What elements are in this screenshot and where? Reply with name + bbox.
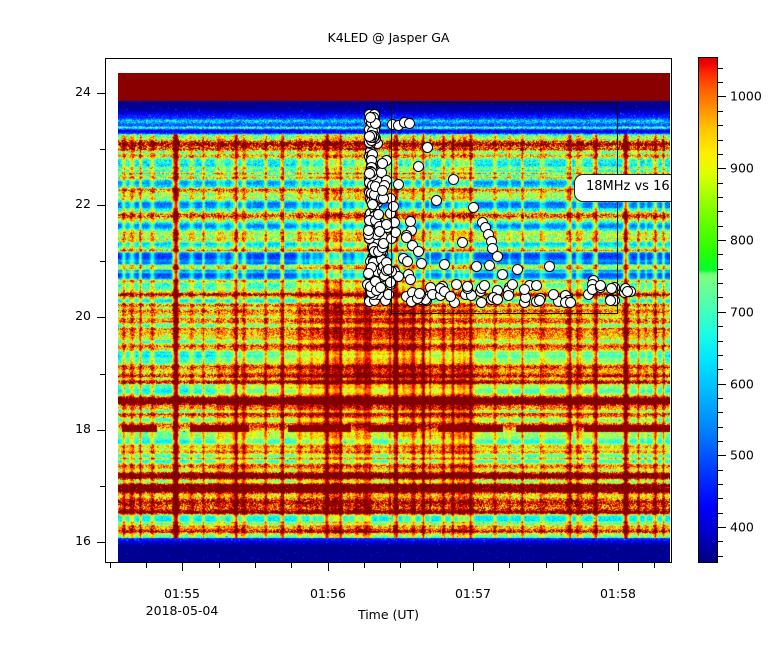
x-axis-tick-minor (509, 563, 510, 568)
colorbar-tick-minor (718, 197, 723, 198)
colorbar-tick-minor (718, 441, 723, 442)
colorbar-tick-minor (718, 111, 723, 112)
x-axis-date-label: 2018-05-04 (146, 603, 219, 618)
page-title: K4LED @ Jasper GA (105, 30, 672, 45)
y-axis-tick-minor (100, 261, 105, 262)
colorbar-tick-label: 800 (730, 233, 754, 248)
colorbar-tick-minor (718, 355, 723, 356)
colorbar-tick-minor (718, 125, 723, 126)
spectrogram-axes[interactable]: 18MHz vs 16MHz (105, 58, 672, 563)
y-axis-tick-label: 18 (75, 421, 91, 436)
x-axis-tick-major (182, 563, 183, 571)
x-axis-tick-label: 01:55 (164, 586, 200, 601)
colorbar-tick-minor (718, 369, 723, 370)
y-axis-tick-major (97, 317, 105, 318)
annotation-textbox[interactable]: 18MHz vs 16MHz (574, 174, 672, 202)
colorbar-tick-minor (718, 82, 723, 83)
x-axis-tick-major (618, 563, 619, 571)
colorbar-tick-minor (718, 513, 723, 514)
colorbar-tick-major (718, 96, 726, 97)
x-axis-tick-minor (546, 563, 547, 568)
x-axis-tick-minor (255, 563, 256, 568)
colorbar-tick-minor (718, 341, 723, 342)
colorbar-tick-minor (718, 498, 723, 499)
colorbar-tick-label: 500 (730, 448, 754, 463)
colorbar-tick-minor (718, 254, 723, 255)
colorbar-tick-minor (718, 154, 723, 155)
y-axis-tick-label: 24 (75, 84, 91, 99)
x-axis-tick-label: 01:56 (310, 586, 346, 601)
colorbar-tick-major (718, 455, 726, 456)
colorbar[interactable] (698, 57, 718, 563)
y-axis-tick-major (97, 93, 105, 94)
y-axis-tick-label: 20 (75, 308, 91, 323)
x-axis-tick-label: 01:57 (455, 586, 491, 601)
colorbar-tick-label: 600 (730, 377, 754, 392)
colorbar-tick-major (718, 312, 726, 313)
colorbar-tick-minor (718, 297, 723, 298)
colorbar-tick-minor (718, 68, 723, 69)
y-axis-tick-minor (100, 149, 105, 150)
x-axis-tick-minor (291, 563, 292, 568)
colorbar-tick-minor (718, 470, 723, 471)
colorbar-gradient (699, 58, 717, 562)
colorbar-tick-minor (718, 283, 723, 284)
figure-canvas: K4LED @ Jasper GA 18MHz vs 16MHz Frequen… (0, 0, 783, 656)
colorbar-tick-minor (718, 211, 723, 212)
colorbar-tick-minor (718, 427, 723, 428)
colorbar-tick-major (718, 527, 726, 528)
colorbar-tick-minor (718, 556, 723, 557)
colorbar-tick-minor (718, 326, 723, 327)
colorbar-tick-major (718, 384, 726, 385)
colorbar-tick-minor (718, 183, 723, 184)
selection-rectangle[interactable] (391, 102, 618, 314)
x-axis-tick-minor (146, 563, 147, 568)
x-axis-tick-minor (110, 563, 111, 568)
colorbar-tick-major (718, 240, 726, 241)
x-axis-tick-minor (582, 563, 583, 568)
colorbar-tick-minor (718, 541, 723, 542)
x-axis-tick-minor (400, 563, 401, 568)
y-axis-tick-major (97, 542, 105, 543)
y-axis-tick-label: 16 (75, 533, 91, 548)
y-axis-tick-minor (100, 374, 105, 375)
y-axis-tick-major (97, 205, 105, 206)
colorbar-tick-label: 400 (730, 520, 754, 535)
y-axis-tick-label: 22 (75, 196, 91, 211)
x-axis-tick-minor (219, 563, 220, 568)
colorbar-tick-major (718, 168, 726, 169)
x-axis-tick-minor (654, 563, 655, 568)
colorbar-tick-label: 900 (730, 161, 754, 176)
colorbar-tick-minor (718, 484, 723, 485)
y-axis-tick-minor (100, 486, 105, 487)
x-axis-tick-minor (437, 563, 438, 568)
colorbar-tick-minor (718, 269, 723, 270)
x-axis-tick-major (473, 563, 474, 571)
y-axis-tick-major (97, 430, 105, 431)
colorbar-tick-label: 700 (730, 305, 754, 320)
x-axis-tick-major (328, 563, 329, 571)
colorbar-tick-minor (718, 412, 723, 413)
x-axis-tick-minor (364, 563, 365, 568)
colorbar-tick-minor (718, 140, 723, 141)
x-axis-tick-label: 01:58 (600, 586, 636, 601)
colorbar-tick-label: 1000 (730, 89, 762, 104)
colorbar-tick-minor (718, 398, 723, 399)
colorbar-tick-minor (718, 226, 723, 227)
